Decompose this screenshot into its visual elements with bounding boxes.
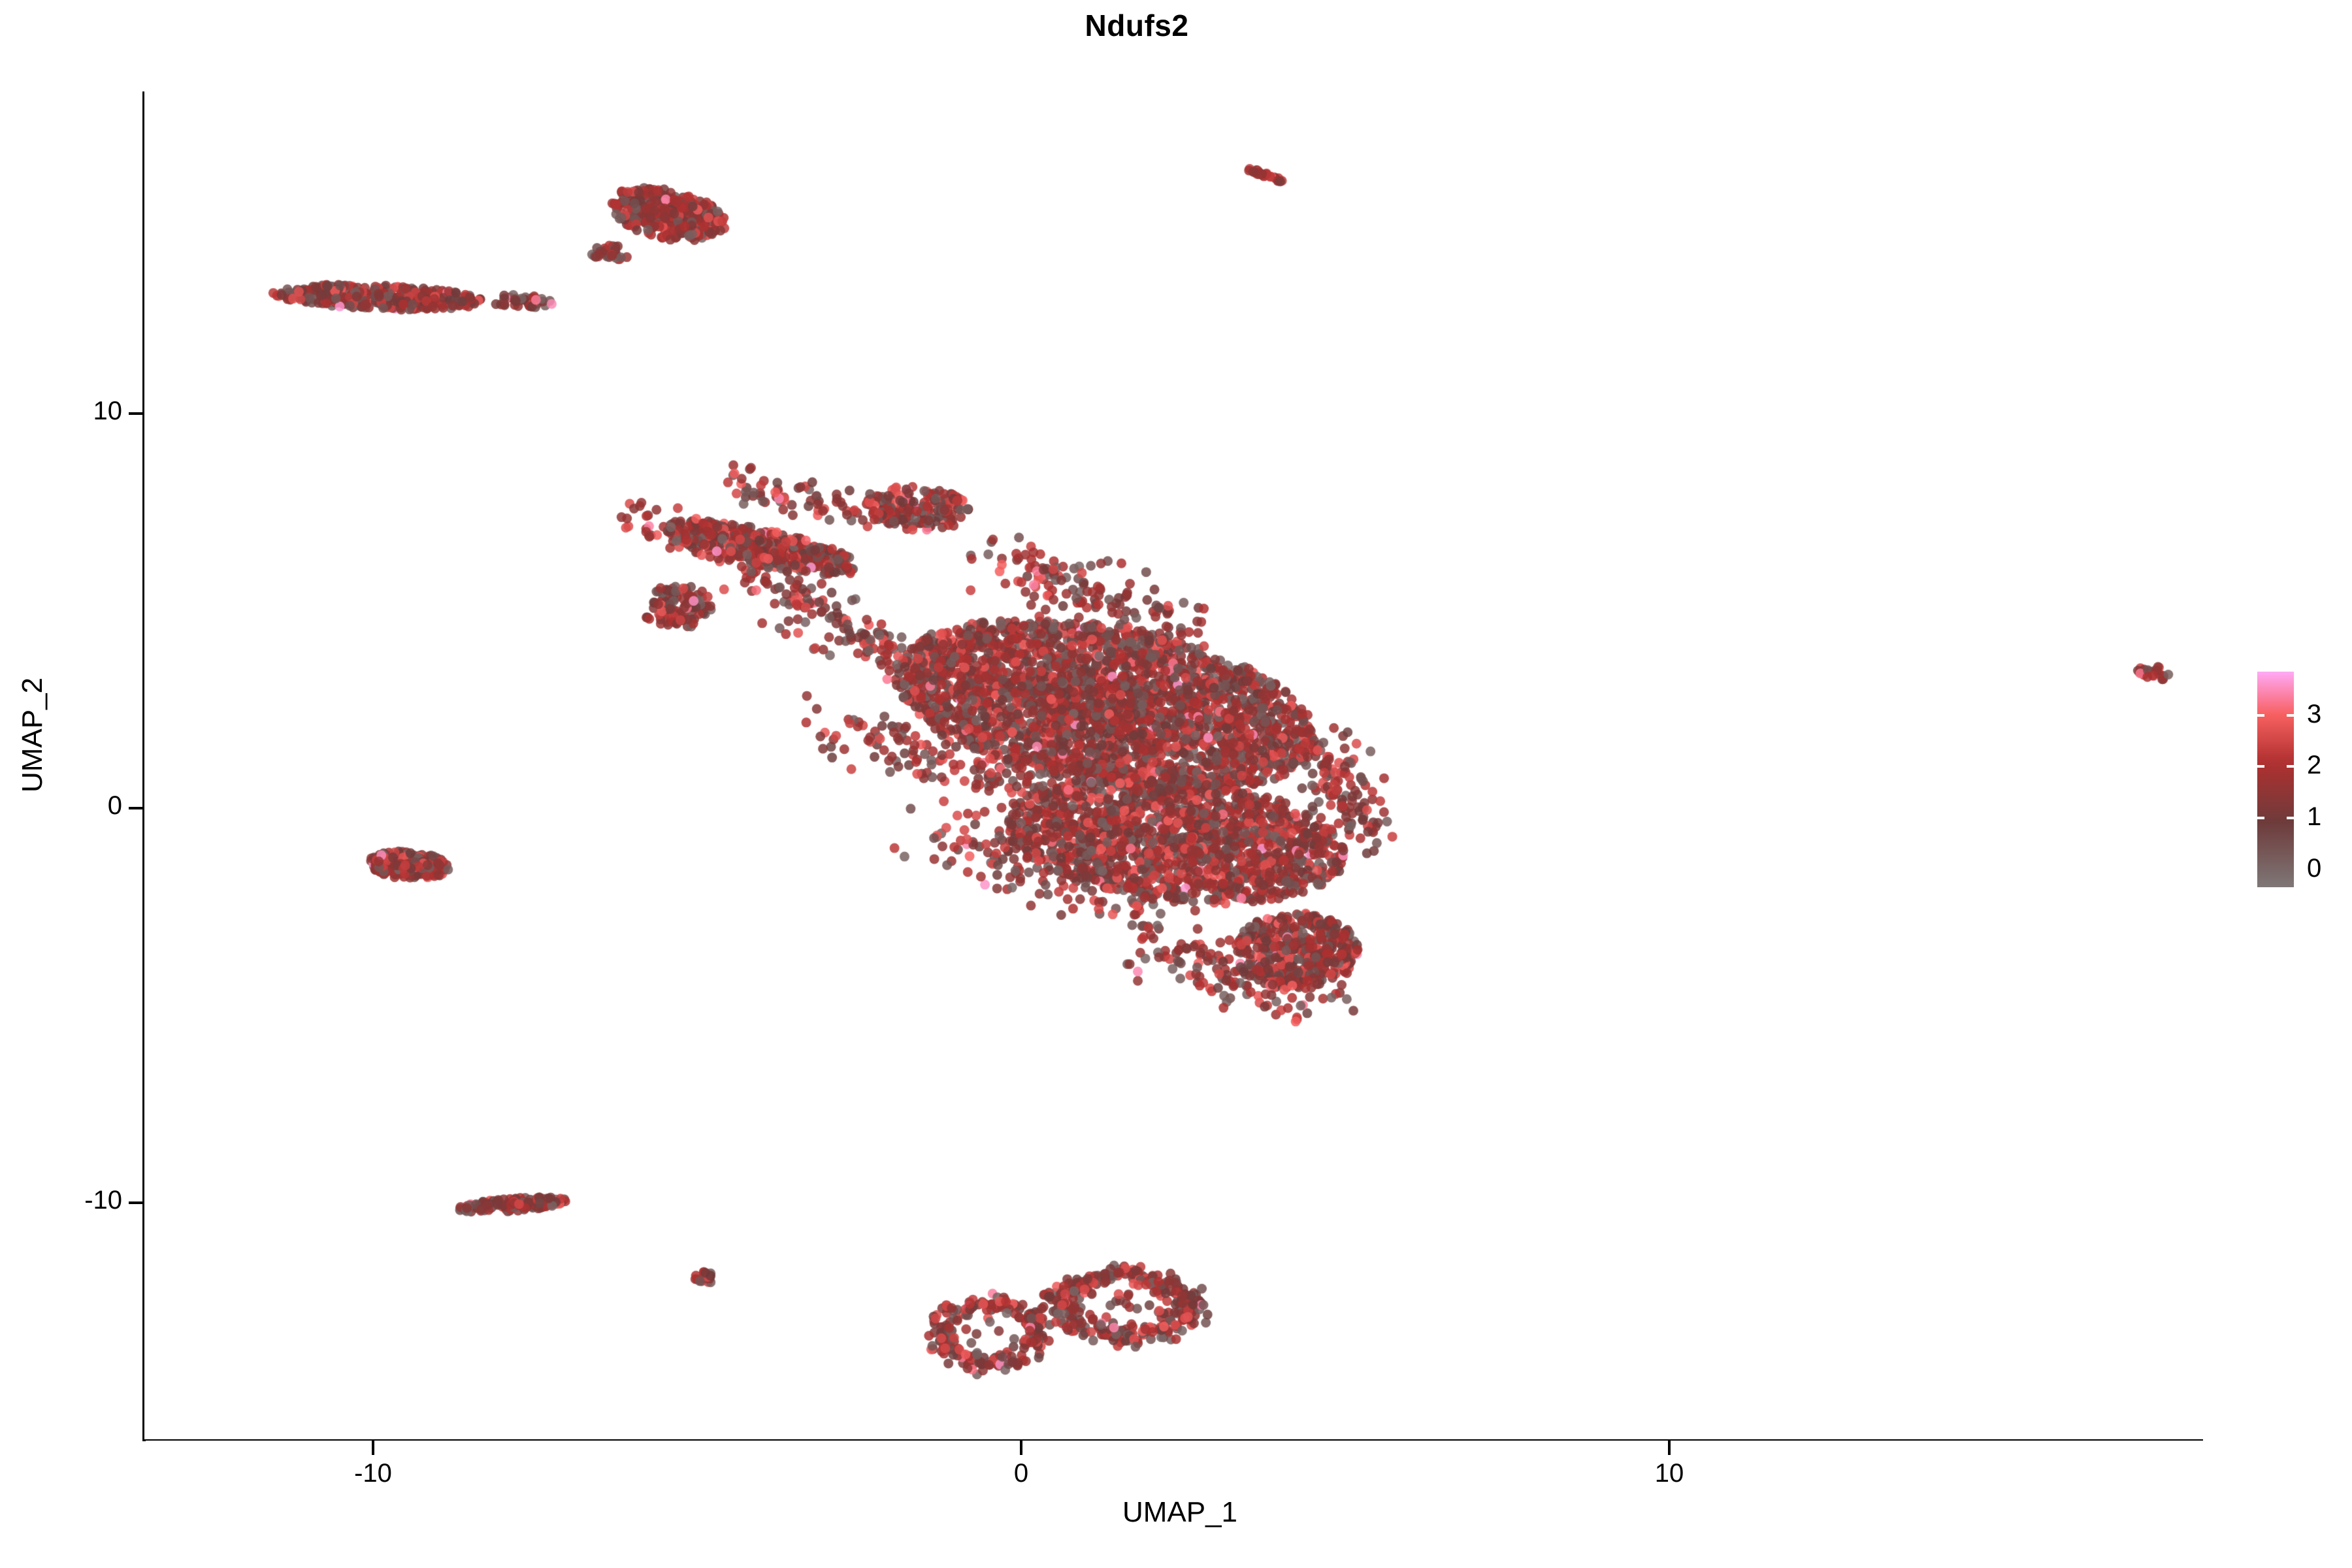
legend-tick-2-right: [2287, 765, 2294, 768]
legend-label-2: 2: [2307, 752, 2321, 778]
legend-tick-3-right: [2287, 714, 2294, 717]
scatter-points-canvas: [144, 91, 2203, 1439]
legend-label-3: 3: [2307, 701, 2321, 727]
x-tick-label--10: -10: [327, 1459, 419, 1488]
umap-feature-plot: Ndufs2 UMAP_2 UMAP_1 -10010-10010 0123: [0, 0, 2352, 1568]
y-axis-title: UMAP_2: [16, 552, 49, 918]
legend-tick-1-right: [2287, 817, 2294, 819]
y-tick-label-10: 10: [31, 397, 122, 426]
legend-gradient-bar: [2257, 672, 2294, 887]
legend-label-1: 1: [2307, 804, 2321, 830]
x-tick-label-10: 10: [1624, 1459, 1715, 1488]
x-tick--10: [372, 1441, 374, 1455]
y-tick--10: [129, 1201, 143, 1204]
y-tick-label-0: 0: [31, 791, 122, 821]
legend-tick-1-left: [2257, 817, 2264, 819]
x-tick-0: [1020, 1441, 1022, 1455]
page-title: Ndufs2: [0, 8, 2274, 43]
y-tick-0: [129, 807, 143, 809]
legend-tick-3-left: [2257, 714, 2264, 717]
x-tick-10: [1668, 1441, 1671, 1455]
y-tick-10: [129, 412, 143, 415]
legend-tick-2-left: [2257, 765, 2264, 768]
x-tick-label-0: 0: [975, 1459, 1067, 1488]
plot-panel: [144, 91, 2203, 1439]
y-tick-label--10: -10: [31, 1186, 122, 1215]
x-axis-title: UMAP_1: [670, 1496, 1690, 1529]
color-legend: [2257, 672, 2294, 887]
legend-label-0: 0: [2307, 855, 2321, 881]
